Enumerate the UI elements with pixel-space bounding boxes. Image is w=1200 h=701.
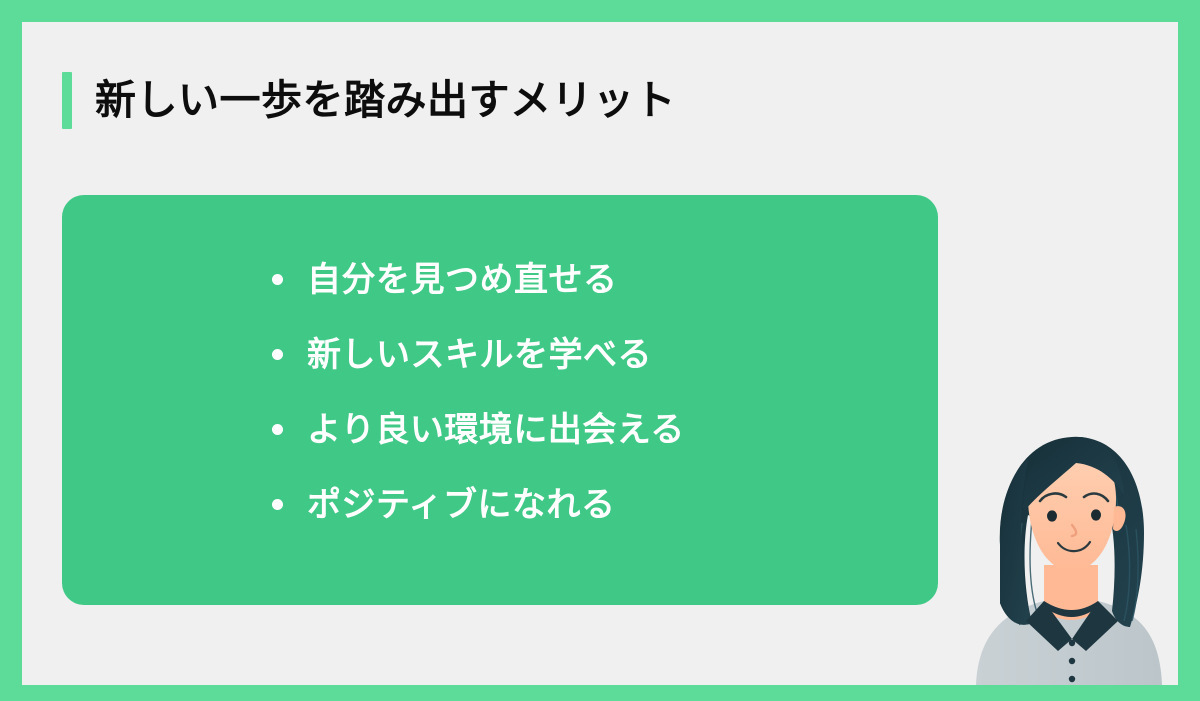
list-item: より良い環境に出会える <box>272 392 685 467</box>
shirt-button <box>1069 676 1075 682</box>
list-item-label: ポジティブになれる <box>307 488 615 522</box>
woman-portrait-illustration <box>948 415 1178 685</box>
benefits-list: 自分を見つめ直せる 新しいスキルを学べる より良い環境に出会える ポジティブにな… <box>272 242 685 542</box>
eye-right <box>1091 509 1101 520</box>
list-item: ポジティブになれる <box>272 467 685 542</box>
list-item-label: 自分を見つめ直せる <box>307 263 618 297</box>
bullet-dot-icon <box>272 349 283 360</box>
list-item: 新しいスキルを学べる <box>272 317 685 392</box>
page-title: 新しい一歩を踏み出すメリット <box>62 70 676 130</box>
list-item-label: 新しいスキルを学べる <box>307 338 652 372</box>
title-label: 新しい一歩を踏み出すメリット <box>95 80 676 121</box>
shirt-button <box>1069 658 1075 664</box>
shirt-button <box>1069 640 1075 646</box>
slide-canvas: 新しい一歩を踏み出すメリット 自分を見つめ直せる 新しいスキルを学べる より良い… <box>22 22 1178 685</box>
title-accent-bar <box>62 72 72 129</box>
benefits-card: 自分を見つめ直せる 新しいスキルを学べる より良い環境に出会える ポジティブにな… <box>62 195 938 605</box>
list-item-label: より良い環境に出会える <box>307 413 685 447</box>
bullet-dot-icon <box>272 274 283 285</box>
eye-left <box>1047 510 1057 521</box>
list-item: 自分を見つめ直せる <box>272 242 685 317</box>
slide-frame: 新しい一歩を踏み出すメリット 自分を見つめ直せる 新しいスキルを学べる より良い… <box>0 0 1200 701</box>
bullet-dot-icon <box>272 499 283 510</box>
bullet-dot-icon <box>272 424 283 435</box>
